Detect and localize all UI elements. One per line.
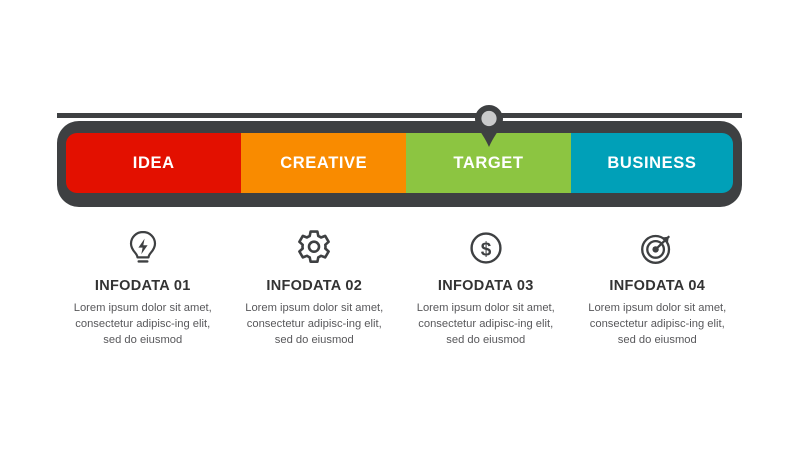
top-rail-line (57, 113, 742, 118)
info-item-description: Lorem ipsum dolor sit amet, consectetur … (238, 301, 390, 349)
banner-segment-creative[interactable]: CREATIVE (241, 133, 406, 193)
info-item-title: INFODATA 02 (266, 278, 362, 294)
info-item-description: Lorem ipsum dolor sit amet, consectetur … (581, 301, 733, 349)
info-item-4: INFODATA 04 Lorem ipsum dolor sit amet, … (572, 228, 744, 358)
banner-segment-label: BUSINESS (607, 154, 696, 173)
info-item-title: INFODATA 03 (438, 278, 534, 294)
info-item-1: INFODATA 01 Lorem ipsum dolor sit amet, … (57, 228, 229, 358)
banner-segment-business[interactable]: BUSINESS (571, 133, 733, 193)
info-item-title: INFODATA 04 (609, 278, 705, 294)
map-pin-icon[interactable] (474, 104, 504, 148)
banner-segment-label: TARGET (453, 154, 523, 173)
info-item-description: Lorem ipsum dolor sit amet, consectetur … (410, 301, 562, 349)
info-item-description: Lorem ipsum dolor sit amet, consectetur … (67, 301, 219, 349)
infographic-canvas: IDEA CREATIVE TARGET BUSINESS (0, 0, 800, 450)
info-item-title: INFODATA 01 (95, 278, 191, 294)
info-item-3: $ INFODATA 03 Lorem ipsum dolor sit amet… (400, 228, 572, 358)
info-items-row: INFODATA 01 Lorem ipsum dolor sit amet, … (57, 228, 743, 358)
banner-segment-label: IDEA (133, 154, 175, 173)
svg-text:$: $ (480, 240, 491, 261)
target-arrow-icon (637, 228, 677, 268)
banner-segment-idea[interactable]: IDEA (66, 133, 241, 193)
dollar-coin-icon: $ (466, 228, 506, 268)
lightbulb-bolt-icon (123, 228, 163, 268)
gear-icon (294, 228, 334, 268)
banner-segment-strip: IDEA CREATIVE TARGET BUSINESS (66, 133, 733, 193)
banner-segment-label: CREATIVE (280, 154, 367, 173)
info-item-2: INFODATA 02 Lorem ipsum dolor sit amet, … (229, 228, 401, 358)
